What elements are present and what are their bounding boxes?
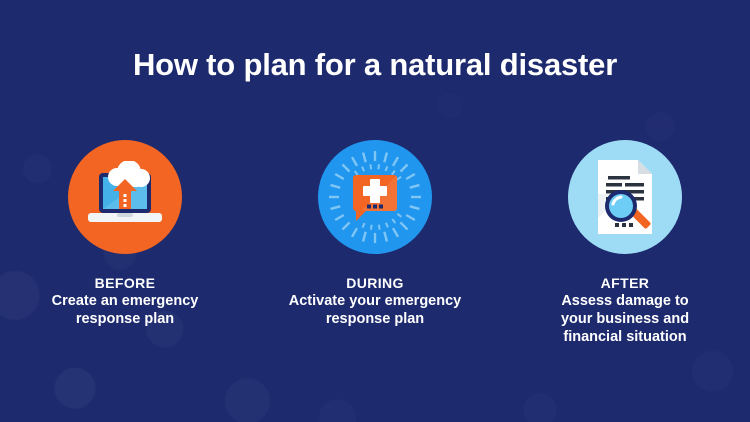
step-before-heading: BEFORE <box>25 274 225 292</box>
step-before-description: Create an emergency response plan <box>25 292 225 328</box>
emergency-alert-speech-bubble-icon <box>325 147 425 247</box>
step-during-caption: DURING Activate your emergency response … <box>270 274 480 328</box>
laptop-cloud-upload-icon <box>83 161 167 233</box>
step-during-icon-circle <box>318 140 432 254</box>
step-during: DURING Activate your emergency response … <box>250 140 500 328</box>
infographic-canvas: How to plan for a natural disaster <box>0 0 750 422</box>
step-after-heading: AFTER <box>535 274 715 292</box>
step-after-icon-circle <box>568 140 682 254</box>
step-before-icon-circle <box>68 140 182 254</box>
document-magnifier-icon <box>588 156 662 238</box>
step-before: BEFORE Create an emergency response plan <box>0 140 250 328</box>
document-dots <box>615 223 633 227</box>
step-before-caption: BEFORE Create an emergency response plan <box>25 274 225 328</box>
step-after: AFTER Assess damage to your business and… <box>500 140 750 346</box>
steps-row: BEFORE Create an emergency response plan <box>0 140 750 346</box>
step-during-heading: DURING <box>270 274 480 292</box>
page-title: How to plan for a natural disaster <box>0 45 750 85</box>
step-during-description: Activate your emergency response plan <box>270 292 480 328</box>
step-after-description: Assess damage to your business and finan… <box>535 292 715 346</box>
magnifier-lens <box>605 190 637 222</box>
bubble-dots <box>367 205 383 209</box>
step-after-caption: AFTER Assess damage to your business and… <box>535 274 715 346</box>
